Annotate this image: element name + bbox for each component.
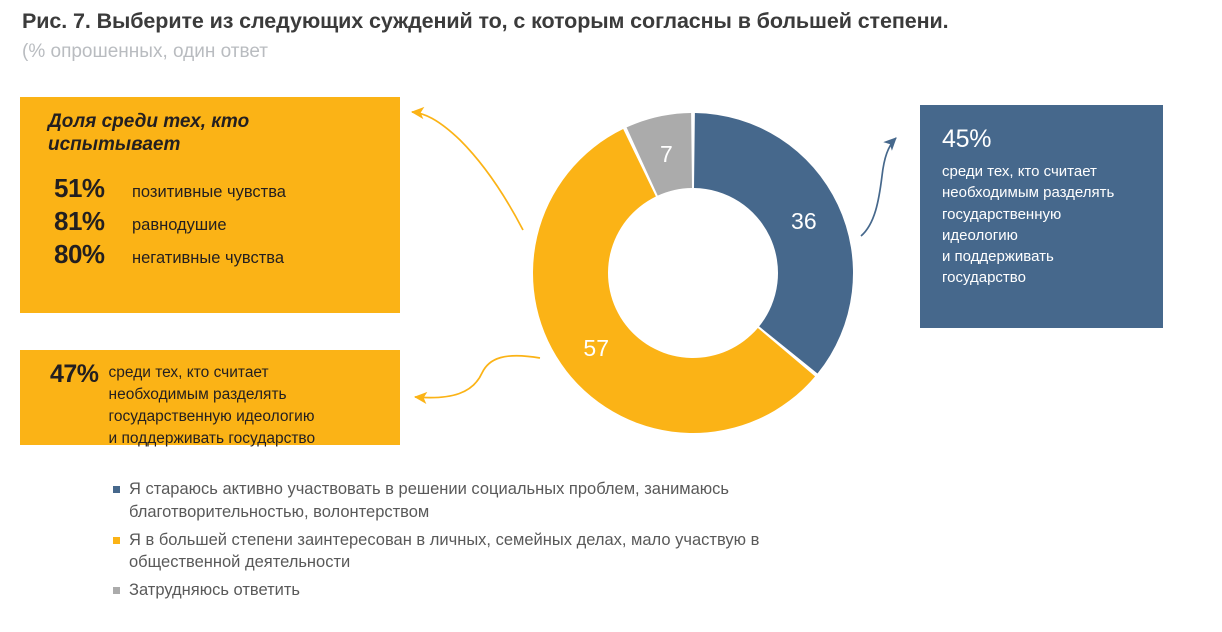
ideology-orange-percent: 47% (50, 362, 99, 387)
callout-ideology-orange: 47% среди тех, кто считает необходимым р… (20, 350, 400, 445)
feelings-row: 81% равнодушие (54, 206, 382, 237)
donut-slices (533, 113, 853, 433)
callout-row: 47% среди тех, кто считает необходимым р… (50, 362, 386, 450)
legend-label-line-1: Я в большей степени заинтересован в личн… (129, 531, 759, 549)
legend-bullet-icon (113, 537, 120, 544)
ideology-orange-line-3: государственную идеологию (109, 408, 315, 425)
ideology-blue-text: среди тех, кто считает необходимым разде… (942, 161, 1147, 289)
feelings-percent: 80% (54, 239, 132, 270)
donut-slice-value: 57 (583, 335, 609, 361)
ideology-blue-line-1: среди тех, кто считает (942, 163, 1097, 180)
ideology-blue-line-5: и поддерживать (942, 248, 1054, 265)
callout-ideology-blue: 45% среди тех, кто считает необходимым р… (920, 105, 1163, 328)
legend-label: Я в большей степени заинтересован в личн… (129, 529, 759, 575)
feelings-rows: 51% позитивные чувства 81% равнодушие 80… (38, 173, 382, 270)
curly-brace-icon (118, 327, 308, 349)
legend-item[interactable]: Затрудняюсь ответить (113, 579, 1073, 602)
legend-label-line-1: Я стараюсь активно участвовать в решении… (129, 480, 729, 498)
ideology-orange-text: среди тех, кто считает необходимым разде… (109, 362, 316, 450)
legend-item[interactable]: Я стараюсь активно участвовать в решении… (113, 478, 1073, 524)
ideology-orange-line-1: среди тех, кто считает (109, 364, 269, 381)
page-title: Рис. 7. Выберите из следующих суждений т… (22, 8, 1202, 35)
donut-svg: 36577 (518, 98, 868, 448)
ideology-blue-line-3: государственную (942, 206, 1061, 223)
legend-label: Я стараюсь активно участвовать в решении… (129, 478, 729, 524)
ideology-blue-line-6: государство (942, 269, 1026, 286)
callout-feelings-heading: Доля среди тех, кто испытывает (48, 111, 382, 157)
legend-label-line-2: общественной деятельности (129, 553, 350, 571)
chart-header: Рис. 7. Выберите из следующих суждений т… (22, 8, 1202, 65)
chart-subtitle: (% опрошенных, один ответ (22, 40, 1202, 65)
feelings-label: позитивные чувства (132, 183, 286, 202)
feelings-percent: 51% (54, 173, 132, 204)
ideology-blue-line-4: идеологию (942, 227, 1018, 244)
ideology-orange-line-4: и поддерживать государство (109, 430, 316, 447)
feelings-label: негативные чувства (132, 249, 284, 268)
donut-slice-value: 36 (791, 208, 817, 234)
legend: Я стараюсь активно участвовать в решении… (113, 478, 1073, 607)
donut-slice-value: 7 (660, 141, 673, 167)
feelings-row: 80% негативные чувства (54, 239, 382, 270)
donut-slice[interactable] (694, 113, 853, 374)
legend-label-line-1: Затрудняюсь ответить (129, 581, 300, 599)
feelings-percent: 81% (54, 206, 132, 237)
arrow-to-feelings-callout (412, 112, 523, 230)
donut-chart: 36577 (518, 98, 868, 448)
legend-item[interactable]: Я в большей степени заинтересован в личн… (113, 529, 1073, 575)
ideology-blue-percent: 45% (942, 127, 1147, 152)
feelings-label: равнодушие (132, 216, 227, 235)
legend-bullet-icon (113, 587, 120, 594)
ideology-blue-line-2: необходимым разделять (942, 184, 1114, 201)
legend-bullet-icon (113, 486, 120, 493)
feelings-row: 51% позитивные чувства (54, 173, 382, 204)
callout-feelings: Доля среди тех, кто испытывает 51% позит… (20, 97, 400, 313)
legend-label-line-2: благотворительностью, волонтерством (129, 503, 429, 521)
legend-label: Затрудняюсь ответить (129, 579, 300, 602)
ideology-orange-line-2: необходимым разделять (109, 386, 287, 403)
